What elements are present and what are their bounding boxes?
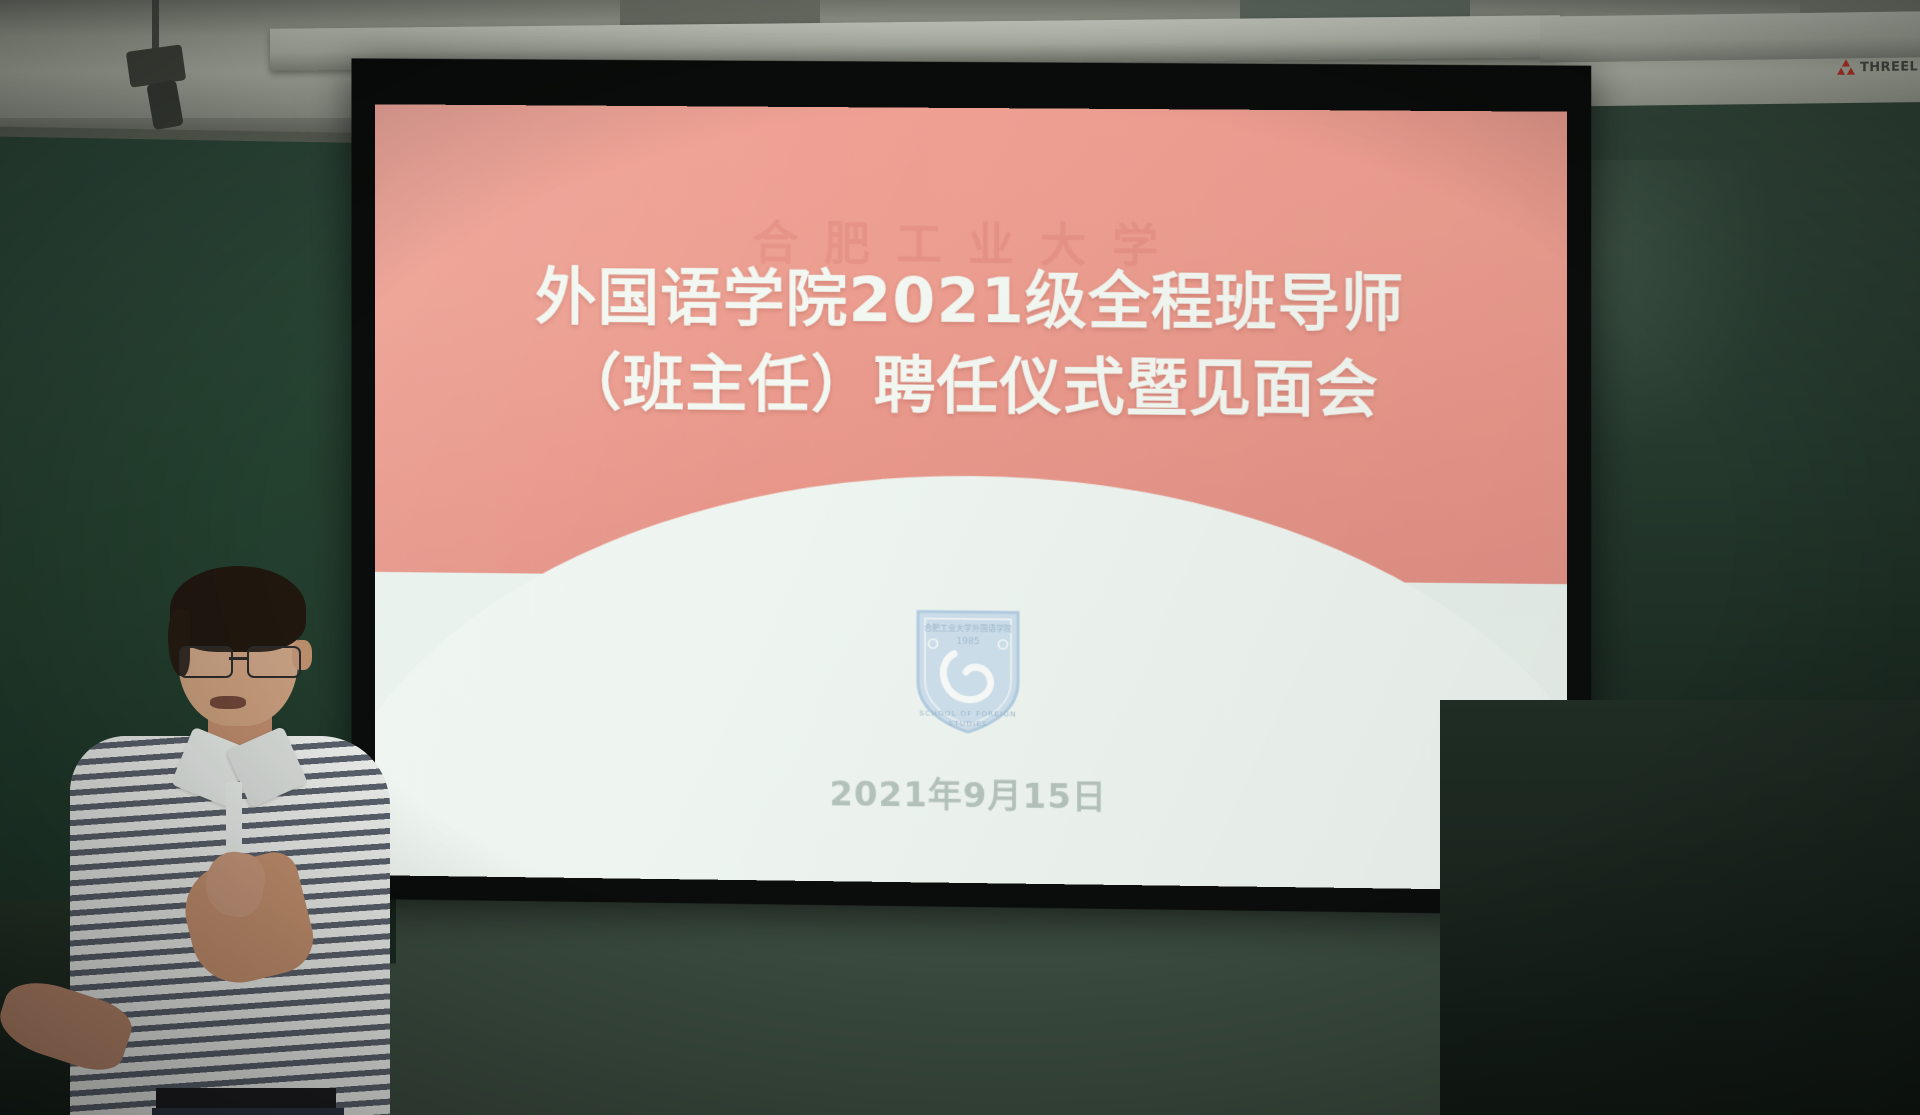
room-shadow-right (1440, 700, 1920, 1115)
slide-title-line-2: （班主任）聘任仪式暨见面会 (375, 339, 1567, 435)
eyeglasses-icon (177, 646, 303, 676)
projector-brand-text: THREEL (1860, 59, 1918, 75)
svg-text:SCHOOL OF FOREIGN: SCHOOL OF FOREIGN (919, 708, 1016, 718)
eyeglass-lens-right (247, 646, 301, 678)
presenter-mouth (210, 696, 246, 709)
slide-title-line-1: 外国语学院2021级全程班导师 (375, 254, 1567, 349)
classroom-photo: THREEL 合肥工业大学 外国语学院2021级全程班导师 （班主任）聘任仪式暨… (0, 0, 1920, 1115)
three-diamond-logo (1836, 58, 1856, 76)
presenter (60, 560, 400, 1115)
projection-screen[interactable]: 合肥工业大学 外国语学院2021级全程班导师 （班主任）聘任仪式暨见面会 合肥工… (375, 104, 1567, 890)
projector-brand-badge: THREEL (1836, 57, 1918, 76)
eyeglass-lens-left (179, 646, 233, 678)
school-crest-icon: 合肥工业大学外国语学院 1985 SCHOOL OF FOREIGN STUDI… (914, 607, 1022, 734)
eyeglass-bridge (229, 657, 249, 660)
slide-title: 外国语学院2021级全程班导师 （班主任）聘任仪式暨见面会 (375, 254, 1567, 435)
presenter-hair (170, 566, 306, 652)
ceiling-light-fixture (126, 44, 186, 87)
ceiling-beam-right (1540, 11, 1920, 62)
svg-text:STUDIES: STUDIES (948, 719, 987, 728)
svg-text:合肥工业大学外国语学院: 合肥工业大学外国语学院 (924, 623, 1012, 634)
slide-emblem-container: 合肥工业大学外国语学院 1985 SCHOOL OF FOREIGN STUDI… (375, 602, 1567, 741)
presenter-trousers (152, 1108, 344, 1115)
svg-text:1985: 1985 (957, 637, 980, 647)
